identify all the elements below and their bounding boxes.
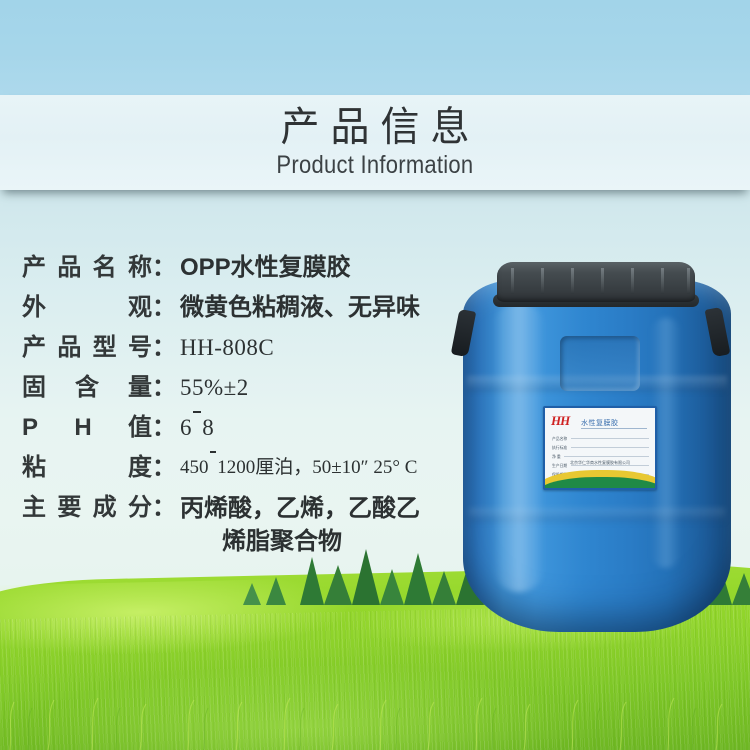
- range-dash: [209, 452, 218, 484]
- label-row-key: 净 重: [552, 454, 561, 460]
- spec-row-model: 产 品 型 号 ： HH-808C: [22, 332, 492, 364]
- grass-blades: [0, 654, 750, 750]
- barrel-highlight-left: [493, 302, 545, 592]
- header-banner: 产品信息 Product Information: [0, 95, 750, 190]
- spec-value-product-name: OPP水性复膜胶: [180, 252, 492, 284]
- spec-value-ph: 6 8: [180, 412, 492, 444]
- page-title: 产品信息: [269, 105, 480, 151]
- product-info-page: HH 水性复膜胶 产品名称 执行标准 净 重 生产日期: [0, 0, 750, 750]
- spec-value-solid-content: 55%±2: [180, 372, 492, 404]
- label-row-line: [571, 447, 649, 448]
- spec-colon: ：: [152, 252, 176, 284]
- barrel-product-label: HH 水性复膜胶 产品名称 执行标准 净 重 生产日期: [543, 406, 657, 490]
- spec-key-product-name: 产 品 名 称: [22, 252, 152, 284]
- spec-key-viscosity: 粘 度: [22, 452, 152, 484]
- spec-value-viscosity: 450 1200厘泊，50±10″ 25° C: [180, 452, 492, 484]
- label-row-line: [571, 438, 649, 439]
- label-row: 执行标准: [552, 444, 649, 451]
- spec-key-ph: P H 值: [22, 412, 152, 444]
- label-row-key: 执行标准: [552, 445, 567, 451]
- sky-background: [0, 0, 750, 95]
- spec-row-product-name: 产 品 名 称 ： OPP水性复膜胶: [22, 252, 492, 284]
- product-barrel-image: HH 水性复膜胶 产品名称 执行标准 净 重 生产日期: [455, 258, 740, 633]
- spec-colon: ：: [152, 492, 176, 524]
- label-logo: HH: [551, 413, 577, 428]
- ingredients-line-1: 丙烯酸，乙烯，乙酸乙: [180, 495, 420, 522]
- spec-row-main-ingredients: 主 要 成 分 ： 丙烯酸，乙烯，乙酸乙 烯脂聚合物: [22, 492, 492, 558]
- label-row: 净 重: [552, 453, 649, 460]
- page-subtitle: Product Information: [276, 152, 473, 179]
- spec-key-appearance: 外 观: [22, 292, 152, 324]
- label-color-band: [545, 466, 655, 488]
- spec-key-solid-content: 固 含 量: [22, 372, 152, 404]
- barrel-lid-ribs: [497, 266, 695, 298]
- spec-colon: ：: [152, 292, 176, 324]
- spec-key-model: 产 品 型 号: [22, 332, 152, 364]
- label-row-line: [564, 456, 649, 457]
- spec-value-main-ingredients: 丙烯酸，乙烯，乙酸乙 烯脂聚合物: [180, 492, 492, 558]
- spec-colon: ：: [152, 372, 176, 404]
- spec-value-appearance: 微黄色粘稠液、无异味: [180, 292, 492, 324]
- spec-list: 产 品 名 称 ： OPP水性复膜胶 外 观 ： 微黄色粘稠液、无异味 产 品 …: [22, 252, 492, 566]
- spec-value-model: HH-808C: [180, 332, 492, 364]
- label-rule: [581, 428, 647, 429]
- label-row: 产品名称: [552, 435, 649, 442]
- spec-colon: ：: [152, 452, 176, 484]
- spec-colon: ：: [152, 412, 176, 444]
- spec-row-solid-content: 固 含 量 ： 55%±2: [22, 372, 492, 404]
- spec-colon: ：: [152, 332, 176, 364]
- spec-row-ph: P H 值 ： 6 8: [22, 412, 492, 444]
- barrel-recessed-panel: [560, 336, 640, 391]
- spec-key-main-ingredients: 主 要 成 分: [22, 492, 152, 524]
- label-row-key: 产品名称: [552, 436, 567, 442]
- spec-row-viscosity: 粘 度 ： 450 1200厘泊，50±10″ 25° C: [22, 452, 492, 484]
- label-title: 水性复膜胶: [581, 418, 650, 427]
- ingredients-line-2: 烯脂聚合物: [180, 525, 492, 558]
- range-dash: [192, 412, 202, 444]
- spec-row-appearance: 外 观 ： 微黄色粘稠液、无异味: [22, 292, 492, 324]
